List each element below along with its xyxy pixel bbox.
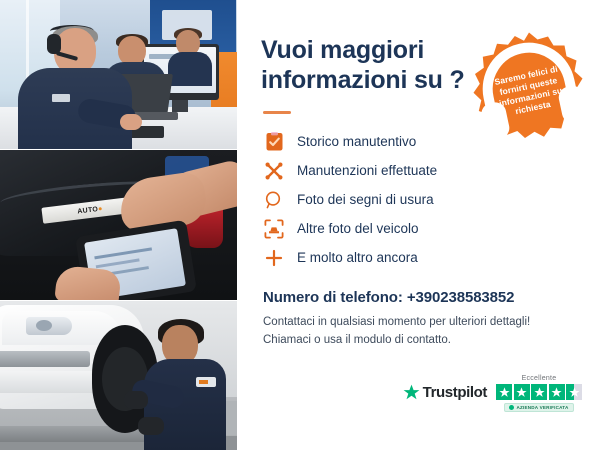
star-icon [403, 384, 420, 401]
workshop-photo [0, 301, 237, 450]
plus-icon [263, 247, 285, 269]
feature-list: Storico manutentivo Manutenzi [263, 128, 578, 271]
rating-star [549, 384, 565, 400]
contact-blurb-line2: Chiamaci o usa il modulo di contatto. [263, 331, 578, 349]
rating-star [531, 384, 547, 400]
feature-item-manutenzioni: Manutenzioni effettuate [263, 157, 578, 184]
rating-star-half [566, 384, 582, 400]
promo-card: AUTO● Vuoi maggiori informa [0, 0, 600, 450]
trustpilot-rating-block: Eccellente [496, 375, 582, 412]
inspection-photo: AUTO● [0, 150, 237, 299]
content-panel: Vuoi maggiori informazioni su ? Saremo f… [237, 0, 600, 450]
verified-check-icon [509, 405, 514, 410]
title-divider [263, 111, 291, 114]
magnifier-icon [263, 189, 285, 211]
clipboard-check-icon [263, 131, 285, 153]
feature-item-altro: E molto altro ancora [263, 244, 578, 271]
trustpilot-logo: Trustpilot [403, 375, 487, 401]
feature-label: Altre foto del veicolo [297, 221, 419, 236]
trustpilot-rating-label: Eccellente [522, 375, 557, 382]
tools-cross-icon [263, 160, 285, 182]
phone-number[interactable]: Numero di telefono: +390238583852 [263, 289, 578, 306]
contact-blurb: Contattaci in qualsiasi momento per ulte… [263, 313, 578, 350]
feature-label: Manutenzioni effettuate [297, 163, 437, 178]
photo-column: AUTO● [0, 0, 237, 450]
rating-star [514, 384, 530, 400]
feature-label: Storico manutentivo [297, 134, 416, 149]
call-center-photo [0, 0, 237, 149]
page-title: Vuoi maggiori informazioni su ? [261, 36, 476, 95]
trustpilot-name: Trustpilot [423, 384, 487, 401]
feature-item-foto-usura: Foto dei segni di usura [263, 186, 578, 213]
car-scan-icon [263, 218, 285, 240]
trustpilot-stars [496, 384, 582, 400]
trustpilot-widget[interactable]: Trustpilot Eccellente [403, 375, 582, 412]
rating-star [496, 384, 512, 400]
feature-label: E molto altro ancora [297, 250, 418, 265]
contact-blurb-line1: Contattaci in qualsiasi momento per ulte… [263, 313, 578, 331]
feature-label: Foto dei segni di usura [297, 192, 434, 207]
headset-icon [459, 19, 599, 159]
feature-item-altre-foto: Altre foto del veicolo [263, 215, 578, 242]
callout-badge: Saremo felici di fornirti queste informa… [470, 30, 588, 148]
verified-badge: AZIENDA VERIFICATA [504, 403, 573, 412]
verified-label: AZIENDA VERIFICATA [516, 405, 568, 410]
